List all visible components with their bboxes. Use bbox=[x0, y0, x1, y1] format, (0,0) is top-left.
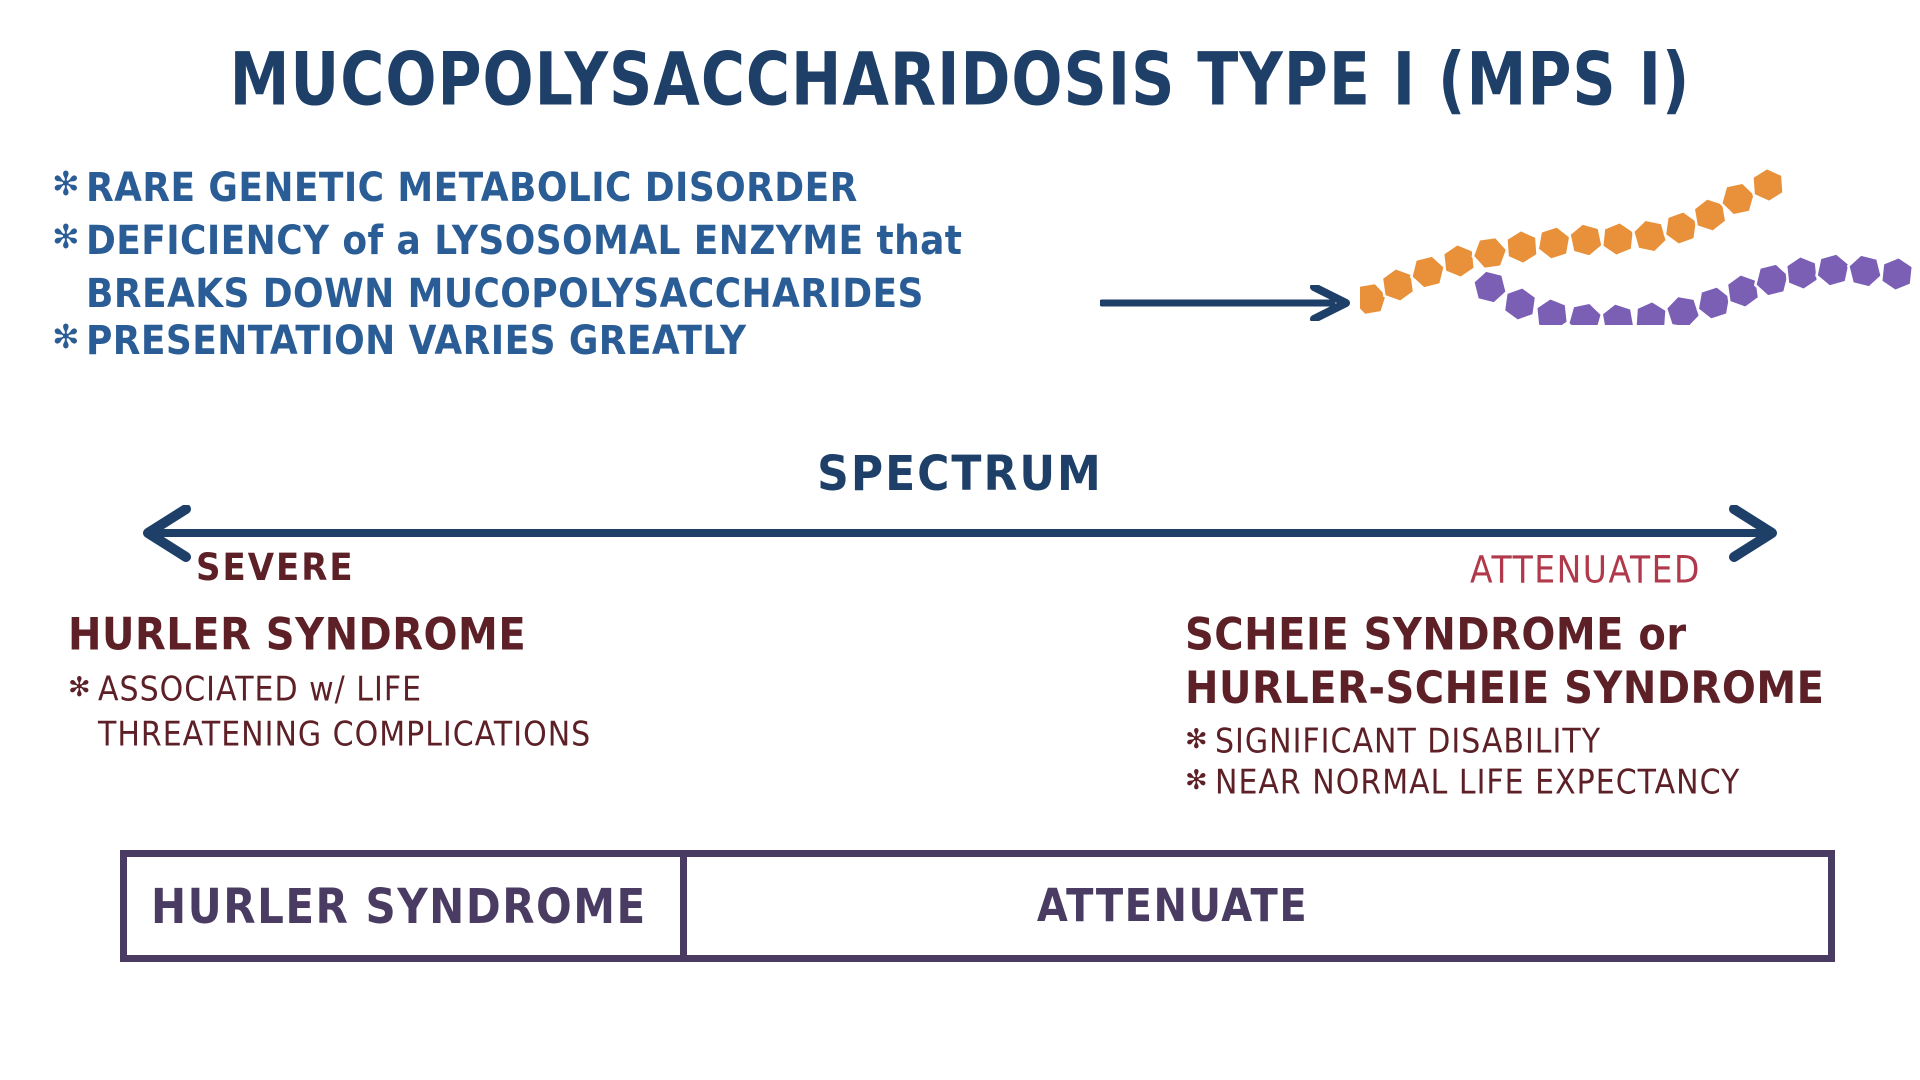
mucopolysaccharide-chains-illustration bbox=[1360, 135, 1920, 325]
spectrum-bar-segment-label: HURLER SYNDROME bbox=[151, 878, 647, 934]
bullet-text-part: DEFICIENCY bbox=[86, 218, 329, 264]
page-title: MUCOPOLYSACCHARIDOSIS TYPE I (MPS I) bbox=[29, 36, 1891, 122]
severe-bullet-line-2: THREATENING COMPLICATIONS bbox=[98, 715, 591, 754]
severe-column: HURLER SYNDROME ✻ ASSOCIATED w/ LIFE THR… bbox=[68, 608, 848, 749]
bullet-text-part-lowercase: of a bbox=[342, 218, 421, 264]
asterisk-icon: ✻ bbox=[1185, 761, 1215, 801]
intro-bullet-list: ✻ RARE GENETIC METABOLIC DISORDER ✻ DEFI… bbox=[52, 162, 1112, 368]
attenuated-column: SCHEIE SYNDROME or HURLER-SCHEIE SYNDROM… bbox=[1185, 608, 1905, 802]
spectrum-heading: SPECTRUM bbox=[0, 446, 1920, 502]
bullet-item: ✻ PRESENTATION VARIES GREATLY bbox=[52, 315, 1112, 362]
asterisk-icon: ✻ bbox=[1185, 720, 1215, 760]
arrow-to-molecules-icon bbox=[1100, 285, 1360, 321]
attenuated-column-heading: SCHEIE SYNDROME or HURLER-SCHEIE SYNDROM… bbox=[1185, 608, 1905, 716]
bullet-text-part: LYSOSOMAL ENZYME bbox=[434, 218, 863, 264]
attenuated-heading-part: SCHEIE SYNDROME bbox=[1185, 609, 1638, 661]
severe-bullet-text: ASSOCIATED w/ LIFE THREATENING COMPLICAT… bbox=[98, 668, 848, 758]
severe-bullet-line-1: ASSOCIATED w/ LIFE bbox=[98, 670, 422, 709]
attenuated-bullet-item: ✻ NEAR NORMAL LIFE EXPECTANCY bbox=[1185, 761, 1905, 801]
asterisk-icon: ✻ bbox=[52, 315, 86, 359]
spectrum-bar-segment-attenuated: ATTENUATE bbox=[687, 857, 1828, 955]
asterisk-icon: ✻ bbox=[52, 215, 86, 259]
attenuated-heading-or: or bbox=[1638, 609, 1686, 661]
severe-column-heading: HURLER SYNDROME bbox=[68, 608, 848, 662]
bullet-item: ✻ DEFICIENCY of a LYSOSOMAL ENZYME that … bbox=[52, 215, 1112, 309]
bullet-text: RARE GENETIC METABOLIC DISORDER bbox=[86, 162, 1112, 215]
spectrum-label-severe: SEVERE bbox=[196, 546, 355, 590]
spectrum-bar-segment-label: ATTENUATE bbox=[1037, 880, 1308, 932]
asterisk-icon: ✻ bbox=[68, 668, 98, 708]
bullet-item: ✻ RARE GENETIC METABOLIC DISORDER bbox=[52, 162, 1112, 209]
bullet-text-part-lowercase: that bbox=[876, 218, 962, 264]
spectrum-bar: HURLER SYNDROME ATTENUATE bbox=[120, 850, 1835, 962]
asterisk-icon: ✻ bbox=[52, 162, 86, 206]
attenuated-heading-part: HURLER-SCHEIE SYNDROME bbox=[1185, 663, 1824, 715]
purple-sugar-chain bbox=[1471, 250, 1913, 325]
spectrum-label-attenuated: ATTENUATED bbox=[1470, 548, 1701, 592]
bullet-text: PRESENTATION VARIES GREATLY bbox=[86, 315, 1112, 368]
bullet-text-part: BREAKS DOWN MUCOPOLYSACCHARIDES bbox=[86, 271, 924, 317]
attenuated-bullet-text: NEAR NORMAL LIFE EXPECTANCY bbox=[1215, 761, 1905, 806]
attenuated-bullet-text: SIGNIFICANT DISABILITY bbox=[1215, 720, 1905, 765]
attenuated-bullet-item: ✻ SIGNIFICANT DISABILITY bbox=[1185, 720, 1905, 760]
bullet-text: DEFICIENCY of a LYSOSOMAL ENZYME that BR… bbox=[86, 215, 1112, 320]
spectrum-bar-segment-hurler: HURLER SYNDROME bbox=[127, 857, 687, 955]
severe-bullet-item: ✻ ASSOCIATED w/ LIFE THREATENING COMPLIC… bbox=[68, 668, 848, 748]
